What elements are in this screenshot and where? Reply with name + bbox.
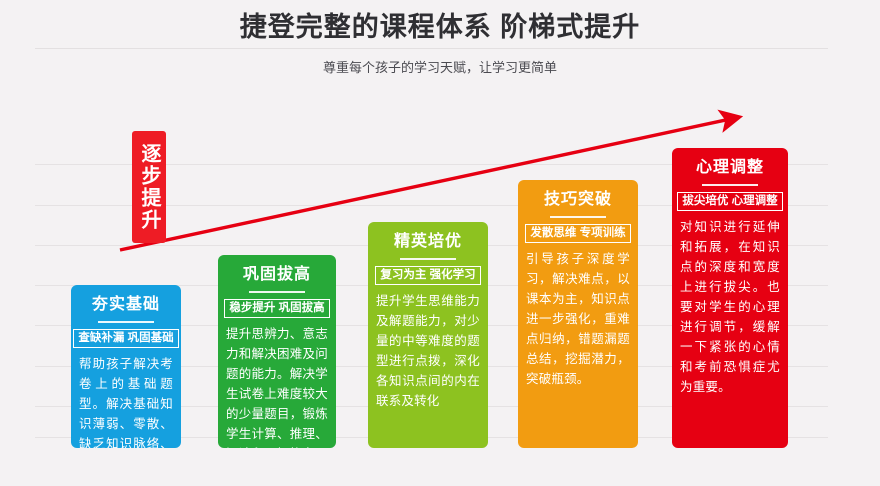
page-subtitle: 尊重每个孩子的学习天赋，让学习更简单 xyxy=(0,58,880,78)
vertical-progress-badge-label: 逐步提升 xyxy=(136,143,162,231)
stage-column-5[interactable]: 心理调整 拔尖培优 心理调整 对知识进行延伸和拓展，在知识点的深度和宽度上进行拔… xyxy=(672,148,788,448)
stage-column-4-title: 技巧突破 xyxy=(544,189,612,211)
stage-column-5-tag: 拔尖培优 心理调整 xyxy=(677,192,782,211)
stage-column-3-title: 精英培优 xyxy=(394,231,462,253)
stage-column-1-title: 夯实基础 xyxy=(92,294,160,316)
stage-column-3-tag: 复习为主 强化学习 xyxy=(375,266,480,285)
stage-column-3-body: 提升学生思维能力及解题能力，对少量的中等难度的题型进行点拨，深化各知识点间的内在… xyxy=(376,291,480,411)
title-divider xyxy=(400,258,456,260)
stage-column-5-body: 对知识进行延伸和拓展，在知识点的深度和宽度上进行拔尖。也要对学生的心理进行调节，… xyxy=(680,217,780,397)
title-divider xyxy=(249,291,305,293)
page-title: 捷登完整的课程体系 阶梯式提升 xyxy=(0,10,880,44)
stage-column-5-title: 心理调整 xyxy=(696,157,764,179)
stage-column-1-tag: 查缺补漏 巩固基础 xyxy=(73,329,178,348)
stage-column-1[interactable]: 夯实基础 查缺补漏 巩固基础 帮助孩子解决考卷上的基础题型。解决基础知识薄弱、零… xyxy=(71,285,181,448)
title-divider xyxy=(98,321,154,323)
stage-column-2[interactable]: 巩固拔高 稳步提升 巩固拔高 提升思辨力、意志力和解决困难及问题的能力。解决学生… xyxy=(218,255,336,448)
infographic-canvas: 捷登完整的课程体系 阶梯式提升 尊重每个孩子的学习天赋，让学习更简单 逐步提升 … xyxy=(0,0,880,486)
stage-column-3[interactable]: 精英培优 复习为主 强化学习 提升学生思维能力及解题能力，对少量的中等难度的题型… xyxy=(368,222,488,448)
header-divider xyxy=(35,48,828,49)
stage-column-4-tag: 发散思维 专项训练 xyxy=(525,224,630,243)
stage-column-2-title: 巩固拔高 xyxy=(243,264,311,286)
stage-column-1-body: 帮助孩子解决考卷上的基础题型。解决基础知识薄弱、零散、缺乏知识脉络、不能交叉运用… xyxy=(79,354,173,448)
title-divider xyxy=(550,216,606,218)
stage-column-2-body: 提升思辨力、意志力和解决困难及问题的能力。解决学生试卷上难度较大的少量题目，锻炼… xyxy=(226,324,328,448)
stage-column-4[interactable]: 技巧突破 发散思维 专项训练 引导孩子深度学习，解决难点，以课本为主，知识点进一… xyxy=(518,180,638,448)
title-divider xyxy=(702,184,758,186)
vertical-progress-badge: 逐步提升 xyxy=(132,131,166,243)
stage-column-4-body: 引导孩子深度学习，解决难点，以课本为主，知识点进一步强化，重难点归纳，错题漏题总… xyxy=(526,249,630,389)
stage-column-2-tag: 稳步提升 巩固拔高 xyxy=(224,299,329,318)
